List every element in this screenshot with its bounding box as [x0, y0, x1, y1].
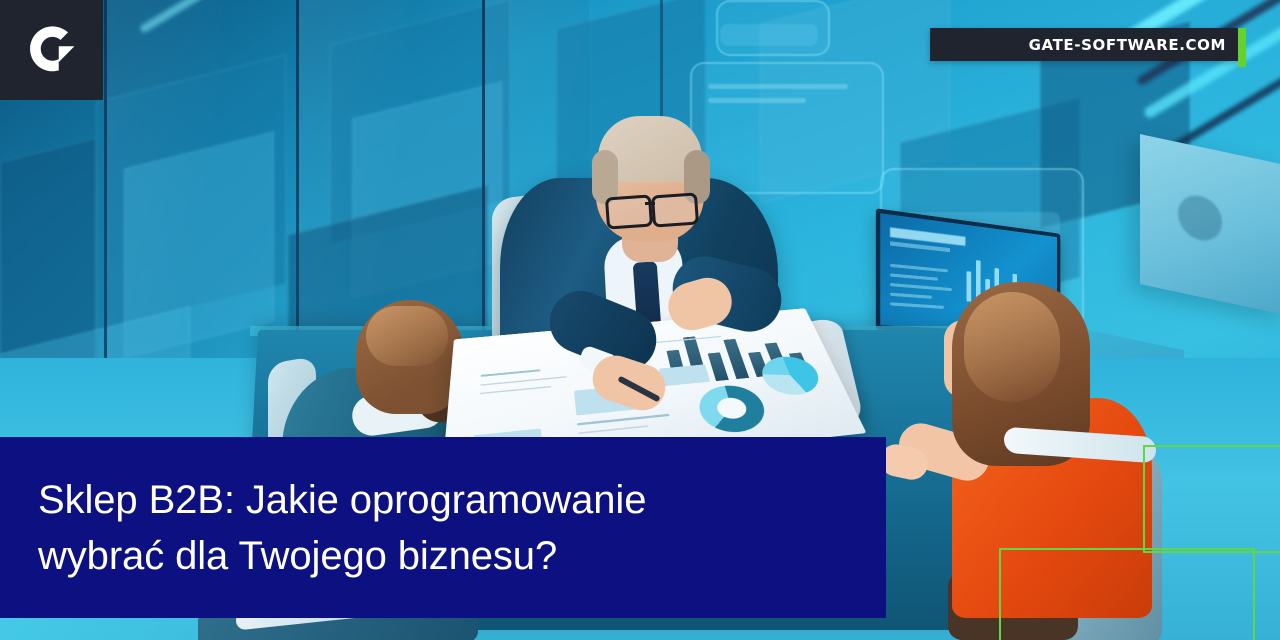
doc-line [578, 425, 648, 434]
brand-logo[interactable] [0, 0, 103, 100]
hair-side-left [592, 150, 618, 204]
doc-block [659, 364, 710, 386]
badge-green-accent [1238, 28, 1246, 67]
hair-highlight [366, 306, 448, 366]
bar [708, 352, 729, 381]
hair-highlight [964, 292, 1060, 402]
doc-line [480, 386, 551, 394]
title-banner: Sklep B2B: Jakie oprogramowanie wybrać d… [0, 437, 886, 618]
eyeglasses-left-lens [605, 194, 653, 229]
site-url-text: GATE-SOFTWARE.COM [1029, 36, 1240, 54]
holographic-line [708, 98, 806, 103]
title-line-1: Sklep B2B: Jakie oprogramowanie [38, 472, 886, 528]
eyeglasses-right-lens [651, 192, 699, 227]
bar [723, 339, 749, 379]
doc-line [577, 414, 670, 426]
gate-g-logo-icon [25, 23, 79, 77]
doc-line [480, 376, 566, 386]
holographic-panel [690, 62, 884, 194]
holographic-line [708, 84, 848, 89]
eyeglasses-bridge [645, 202, 655, 205]
monitor-bar [966, 271, 971, 302]
doc-line [481, 369, 541, 377]
title-line-2: wybrać dla Twojego biznesu? [38, 528, 886, 584]
site-url-badge[interactable]: GATE-SOFTWARE.COM [930, 28, 1240, 61]
holographic-panel-fill [720, 24, 818, 46]
image-canvas: GATE-SOFTWARE.COM Sklep B2B: Jakie oprog… [0, 0, 1280, 640]
